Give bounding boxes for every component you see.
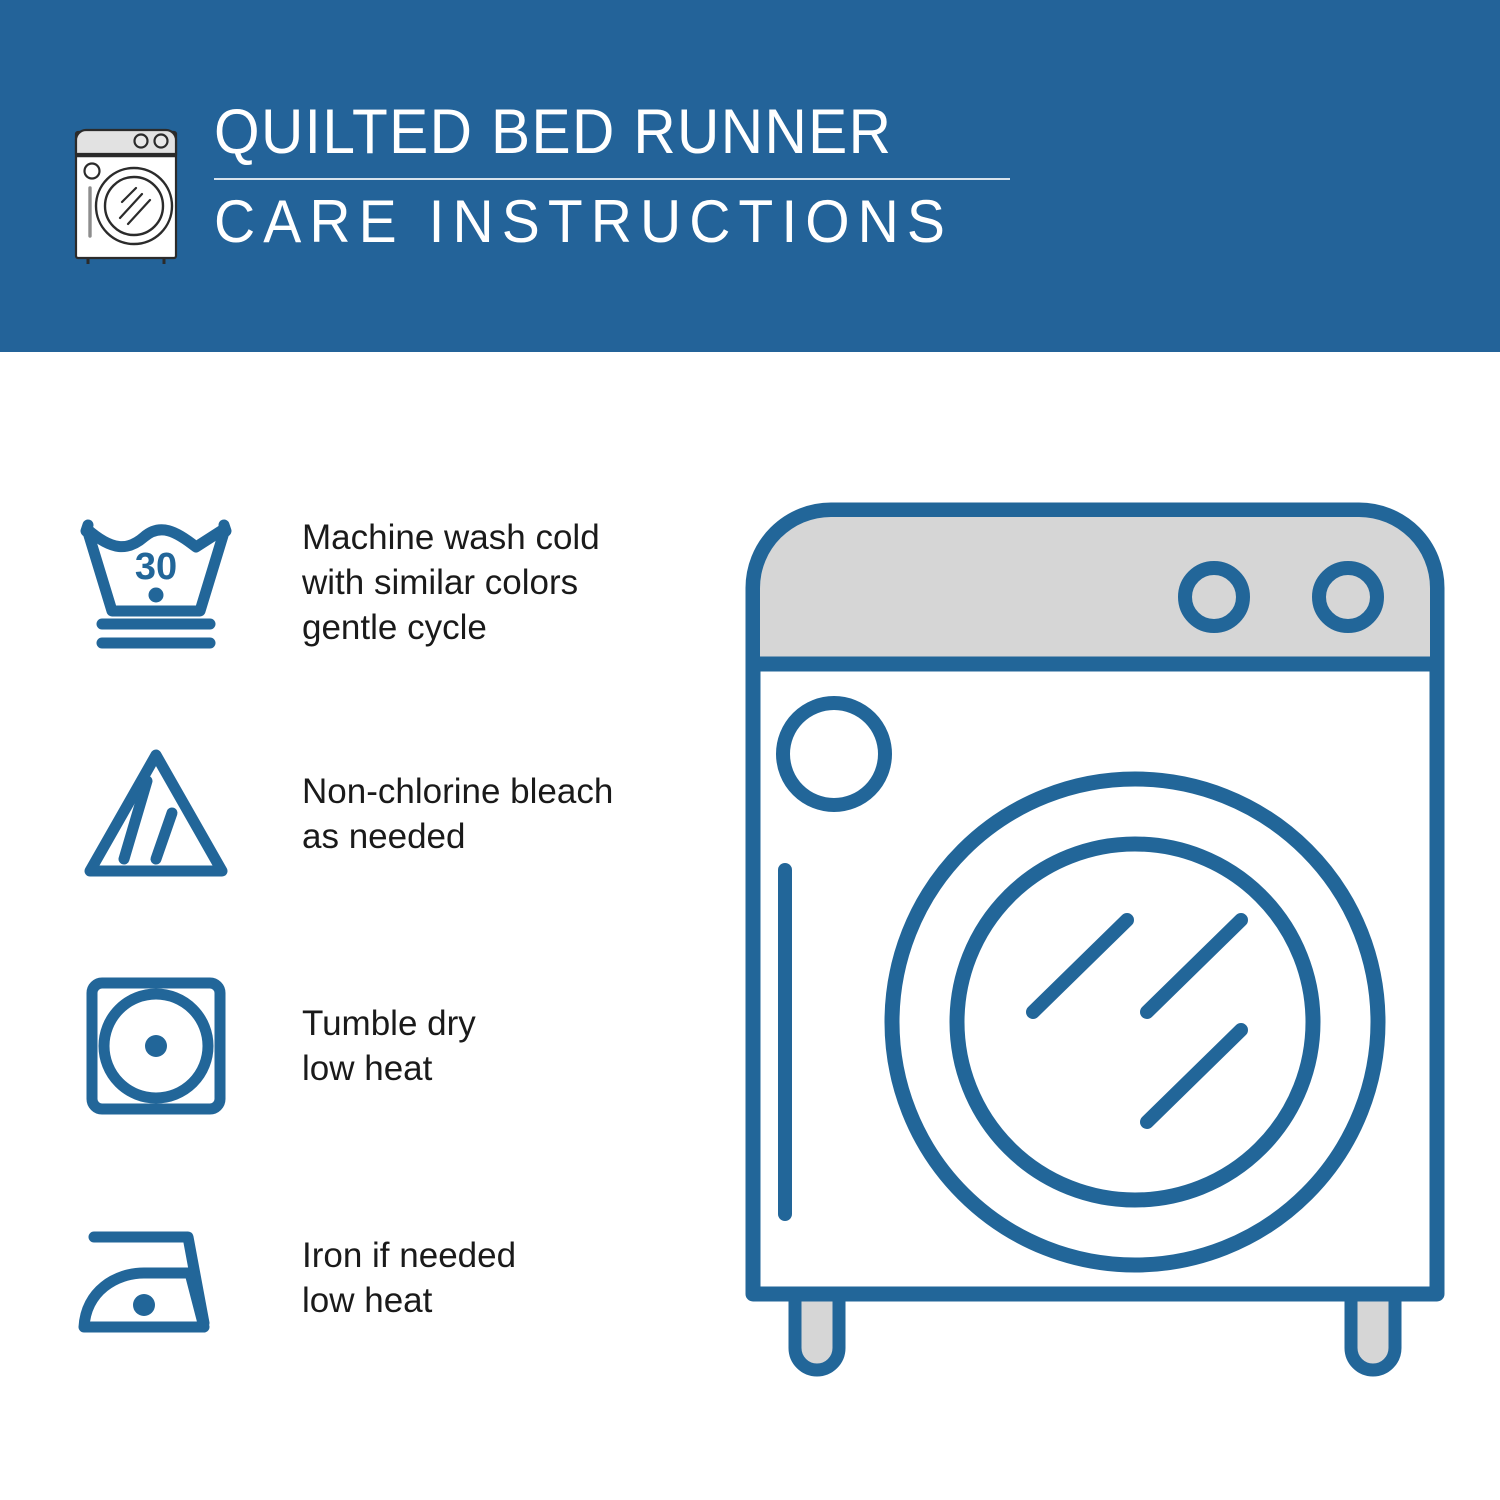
large-washing-machine-illustration bbox=[735, 492, 1455, 1412]
non-chlorine-bleach-triangle-icon bbox=[72, 739, 240, 889]
control-knob-right bbox=[1319, 568, 1377, 626]
leg-left bbox=[795, 1292, 839, 1370]
page-subtitle: CARE INSTRUCTIONS bbox=[214, 190, 970, 254]
care-label-bleach: Non-chlorine bleach as needed bbox=[302, 769, 613, 859]
care-row-tumble-dry: Tumble dry low heat bbox=[72, 966, 672, 1126]
tumble-dry-low-icon bbox=[72, 971, 240, 1121]
care-label-iron: Iron if needed low heat bbox=[302, 1233, 516, 1323]
page-title: QUILTED BED RUNNER bbox=[214, 98, 954, 166]
care-row-iron: Iron if needed low heat bbox=[72, 1198, 672, 1358]
care-instruction-list: 30 Machine wash cold with similar colors… bbox=[72, 502, 672, 1358]
care-label-tumble-dry: Tumble dry low heat bbox=[302, 1001, 476, 1091]
care-row-bleach: Non-chlorine bleach as needed bbox=[72, 734, 672, 894]
control-knob-left bbox=[1185, 568, 1243, 626]
detergent-indicator bbox=[783, 703, 885, 805]
wash-basin-30-gentle-icon: 30 bbox=[72, 507, 240, 657]
care-row-machine-wash: 30 Machine wash cold with similar colors… bbox=[72, 502, 672, 662]
title-divider bbox=[214, 178, 1010, 180]
main-content: 30 Machine wash cold with similar colors… bbox=[0, 352, 1500, 1500]
care-label-machine-wash: Machine wash cold with similar colors ge… bbox=[302, 515, 600, 650]
washing-machine-icon bbox=[62, 96, 190, 264]
iron-low-heat-icon bbox=[72, 1203, 240, 1353]
header-title-block: QUILTED BED RUNNER CARE INSTRUCTIONS bbox=[214, 96, 1010, 254]
drum-inner-ring bbox=[957, 844, 1313, 1200]
header-content: QUILTED BED RUNNER CARE INSTRUCTIONS bbox=[62, 96, 1010, 264]
leg-right bbox=[1351, 1292, 1395, 1370]
header-banner: QUILTED BED RUNNER CARE INSTRUCTIONS bbox=[0, 0, 1500, 352]
wash-temperature-value: 30 bbox=[135, 546, 177, 588]
